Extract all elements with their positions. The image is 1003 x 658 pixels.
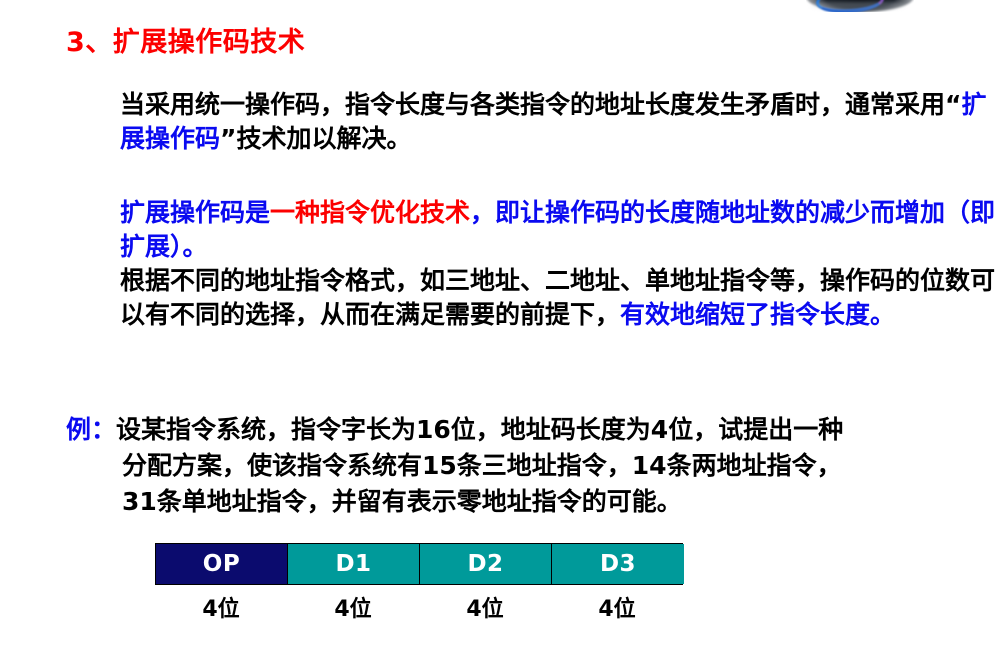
logo-fragment-icon bbox=[806, 0, 914, 12]
p1-quote-close: ” bbox=[220, 124, 236, 153]
bits-label-d1: 4位 bbox=[287, 591, 419, 623]
p2-highlight: 一种指令优化技术 bbox=[270, 198, 470, 227]
p2-segment-1: 扩展操作码是 bbox=[120, 198, 270, 227]
bits-label-d3: 4位 bbox=[551, 591, 683, 623]
example-block: 例：设某指令系统，指令字长为16位，地址码长度为4位，试提出一种 分配方案，使该… bbox=[66, 412, 1001, 520]
logo-swoosh-shadow bbox=[810, 2, 906, 12]
bits-label-op: 4位 bbox=[155, 591, 287, 623]
slide-title: 3、扩展操作码技术 bbox=[66, 20, 305, 59]
logo-swoosh-dark bbox=[806, 0, 914, 12]
example-label: 例： bbox=[66, 415, 116, 444]
p1-segment-2: 技术加以解决。 bbox=[236, 124, 411, 153]
format-cell-d1: D1 bbox=[288, 544, 420, 584]
format-cell-d2: D2 bbox=[420, 544, 552, 584]
logo-swoosh-blue bbox=[815, 0, 885, 12]
p3-highlight: 有效地缩短了指令长度。 bbox=[620, 300, 895, 329]
example-line-2: 分配方案，使该指令系统有15条三地址指令，14条两地址指令， bbox=[66, 448, 1001, 484]
p1-quote-open: “ bbox=[945, 90, 961, 119]
instruction-format-row: OP D1 D2 D3 bbox=[155, 543, 683, 585]
example-line-1-text: 设某指令系统，指令字长为16位，地址码长度为4位，试提出一种 bbox=[116, 415, 843, 444]
format-cell-op: OP bbox=[156, 544, 288, 584]
paragraph-address-formats: 根据不同的地址指令格式，如三地址、二地址、单地址指令等，操作码的位数可以有不同的… bbox=[120, 264, 1000, 332]
example-line-3: 31条单地址指令，并留有表示零地址指令的可能。 bbox=[66, 484, 1001, 520]
format-cell-d3: D3 bbox=[552, 544, 684, 584]
paragraph-opcode-definition: 扩展操作码是一种指令优化技术，即让操作码的长度随地址数的减少而增加（即扩展）。 bbox=[120, 196, 1000, 264]
example-line-2-text: 分配方案，使该指令系统有15条三地址指令，14条两地址指令， bbox=[122, 451, 842, 480]
paragraph-unified-opcode: 当采用统一操作码，指令长度与各类指令的地址长度发生矛盾时，通常采用“扩展操作码”… bbox=[120, 88, 1000, 156]
example-line-3-text: 31条单地址指令，并留有表示零地址指令的可能。 bbox=[122, 487, 682, 516]
instruction-format-bit-labels: 4位 4位 4位 4位 bbox=[155, 591, 683, 623]
example-line-1: 例：设某指令系统，指令字长为16位，地址码长度为4位，试提出一种 bbox=[66, 412, 1001, 448]
instruction-format-diagram: OP D1 D2 D3 4位 4位 4位 4位 bbox=[155, 543, 683, 623]
p1-segment-1: 当采用统一操作码，指令长度与各类指令的地址长度发生矛盾时，通常采用 bbox=[120, 90, 945, 119]
bits-label-d2: 4位 bbox=[419, 591, 551, 623]
